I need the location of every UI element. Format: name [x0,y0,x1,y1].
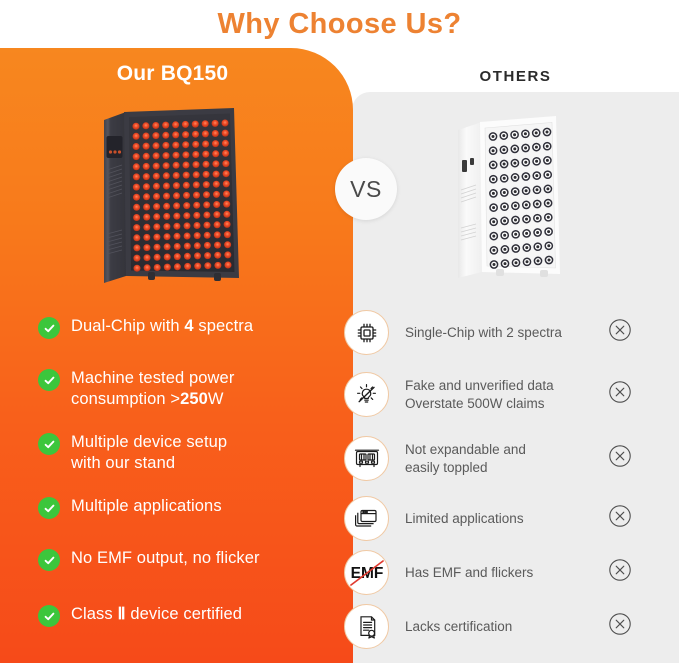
chip-icon [344,310,389,355]
left-column-header: Our BQ150 [0,62,345,86]
con-item: Not expandable andeasily toppled [344,436,664,481]
page-title: Why Choose Us? [217,8,461,41]
product-image-bq150 [96,106,256,292]
con-item: EMFHas EMF and flickers [344,550,664,595]
device-rack-icon [344,436,389,481]
con-item-label: Limited applications [405,510,607,528]
x-circle-icon [607,557,633,588]
x-circle-icon [607,611,633,642]
emf-crossed-icon: EMF [344,550,389,595]
x-circle-icon [607,443,633,474]
con-item-label: Not expandable andeasily toppled [405,441,607,477]
con-item-label: Has EMF and flickers [405,564,607,582]
title-bar: Why Choose Us? [0,0,679,48]
con-item: Fake and unverified dataOverstate 500W c… [344,372,664,417]
con-item-label: Fake and unverified dataOverstate 500W c… [405,377,607,413]
right-column-header: OTHERS [352,68,679,85]
certificate-icon [344,604,389,649]
x-circle-icon [607,379,633,410]
con-item: Single-Chip with 2 spectra [344,310,664,355]
x-circle-icon [607,503,633,534]
lightbulb-crossed-icon [344,372,389,417]
vs-badge: VS [335,158,397,220]
x-circle-icon [607,317,633,348]
windows-stack-icon [344,496,389,541]
con-item: Limited applications [344,496,664,541]
cons-list: Single-Chip with 2 spectraFake and unver… [0,300,679,648]
con-item-label: Lacks certification [405,618,607,636]
con-item: Lacks certification [344,604,664,649]
con-item-label: Single-Chip with 2 spectra [405,324,607,342]
product-image-competitor [452,112,572,288]
